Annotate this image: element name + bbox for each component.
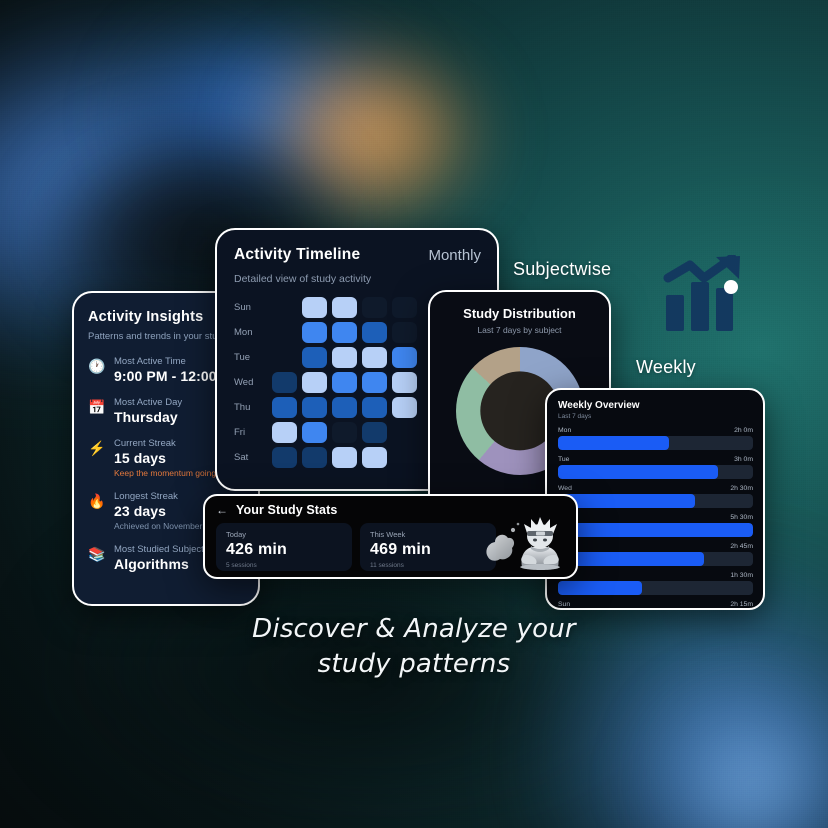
weekly-bar-header: Mon2h 0m: [558, 427, 753, 434]
heatmap-cell[interactable]: [362, 447, 387, 468]
heatmap-day-label: Mon: [234, 327, 272, 338]
insight-value: 23 days: [114, 503, 202, 519]
heatmap-cell[interactable]: [392, 297, 417, 318]
weekly-bar-item: Thu5h 30m: [558, 514, 753, 537]
study-distribution-title: Study Distribution: [442, 306, 597, 321]
weekly-bar-value: 5h 30m: [730, 514, 753, 521]
heatmap-cell[interactable]: [362, 372, 387, 393]
heatmap-cell[interactable]: [362, 422, 387, 443]
insight-label: Longest Streak: [114, 491, 202, 502]
heatmap-cells: [272, 297, 417, 318]
weekly-bar-fill: [558, 465, 718, 479]
heatmap-cell[interactable]: [272, 447, 297, 468]
study-stat-label: Today: [226, 530, 342, 539]
heatmap-day-label: Thu: [234, 402, 272, 413]
weekly-overview-subtitle: Last 7 days: [558, 413, 753, 420]
heatmap-cell[interactable]: [392, 322, 417, 343]
weekly-bar-track[interactable]: [558, 552, 753, 566]
heatmap-cell[interactable]: [302, 347, 327, 368]
heatmap-cell: [272, 297, 297, 318]
heatmap-day-label: Sat: [234, 452, 272, 463]
weekly-bar-fill: [558, 523, 753, 537]
study-stat-sessions: 11 sessions: [370, 562, 486, 569]
lightning-bolt-icon: ⚡: [88, 438, 105, 456]
heatmap-cell[interactable]: [392, 372, 417, 393]
weekly-bar-day: Sun: [558, 601, 570, 608]
clock-icon: 🕐: [88, 356, 105, 374]
weekly-bar-item: Mon2h 0m: [558, 427, 753, 450]
insight-text: Current Streak15 daysKeep the momentum g…: [114, 438, 218, 478]
study-distribution-subtitle: Last 7 days by subject: [442, 325, 597, 335]
weekly-bar-fill: [558, 581, 642, 595]
calendar-icon: 📅: [88, 397, 105, 415]
books-icon: 📚: [88, 544, 105, 562]
heatmap-day-label: Wed: [234, 377, 272, 388]
weekly-overview-title: Weekly Overview: [558, 400, 753, 411]
weekly-overview-card: Weekly Overview Last 7 days Mon2h 0mTue3…: [545, 388, 765, 610]
weekly-bar-track[interactable]: [558, 523, 753, 537]
weekly-bar-track[interactable]: [558, 581, 753, 595]
heatmap-cell: [392, 447, 417, 468]
insight-text: Longest Streak23 daysAchieved on Novembe…: [114, 491, 202, 531]
heatmap-cell[interactable]: [332, 372, 357, 393]
heatmap-cell: [272, 347, 297, 368]
insight-value: Thursday: [114, 409, 182, 425]
study-stats-card: ← Your Study Stats Today426 min5 session…: [203, 494, 578, 579]
heatmap-cell[interactable]: [302, 322, 327, 343]
heatmap-day-label: Tue: [234, 352, 272, 363]
weekly-bar-value: 3h 0m: [734, 456, 753, 463]
study-stat-sessions: 5 sessions: [226, 562, 342, 569]
heatmap-cell: [392, 422, 417, 443]
heatmap-cell[interactable]: [332, 447, 357, 468]
weekly-bar-item: Tue3h 0m: [558, 456, 753, 479]
weekly-bar-fill: [558, 436, 669, 450]
heatmap-cell[interactable]: [302, 397, 327, 418]
heatmap-cell[interactable]: [392, 397, 417, 418]
weekly-bar-track[interactable]: [558, 465, 753, 479]
heatmap-cell[interactable]: [392, 347, 417, 368]
heatmap-cells: [272, 322, 417, 343]
heatmap-day-label: Fri: [234, 427, 272, 438]
insight-label: Current Streak: [114, 438, 218, 449]
fire-icon: 🔥: [88, 491, 105, 509]
label-weekly: Weekly: [636, 357, 696, 378]
activity-timeline-title: Activity Timeline: [234, 246, 360, 264]
weekly-bar-track[interactable]: [558, 494, 753, 508]
insight-value: 15 days: [114, 450, 218, 466]
caption-line-2: study patterns: [0, 647, 828, 682]
caption: Discover & Analyze your study patterns: [0, 612, 828, 682]
weekly-bar-value: 2h 0m: [734, 427, 753, 434]
heatmap-day-label: Sun: [234, 302, 272, 313]
insight-text: Most Active DayThursday: [114, 397, 182, 425]
heatmap-cells: [272, 397, 417, 418]
activity-timeline-subtitle: Detailed view of study activity: [234, 273, 481, 285]
weekly-overview-bar-list: Mon2h 0mTue3h 0mWed2h 30mThu5h 30mFri2h …: [558, 427, 753, 610]
insight-value: Algorithms: [114, 556, 204, 572]
insight-label: Most Studied Subject: [114, 544, 204, 555]
heatmap-cell[interactable]: [272, 372, 297, 393]
heatmap-cell[interactable]: [332, 422, 357, 443]
weekly-bar-day: Tue: [558, 456, 569, 463]
weekly-bar-item: Fri2h 45m: [558, 543, 753, 566]
heatmap-cell[interactable]: [362, 297, 387, 318]
heatmap-cell[interactable]: [362, 347, 387, 368]
weekly-bar-header: Wed2h 30m: [558, 485, 753, 492]
weekly-bar-header: Sat1h 30m: [558, 572, 753, 579]
weekly-bar-header: Sun2h 15m: [558, 601, 753, 608]
insight-text: Most Studied SubjectAlgorithms: [114, 544, 204, 572]
bar-chart-growth-icon: [660, 255, 748, 337]
weekly-bar-day: Wed: [558, 485, 572, 492]
anime-character-art: [482, 513, 574, 573]
heatmap-cell[interactable]: [302, 372, 327, 393]
heatmap-cell[interactable]: [332, 347, 357, 368]
weekly-bar-value: 2h 45m: [730, 543, 753, 550]
study-stat-tile[interactable]: This Week469 min11 sessions: [360, 523, 496, 571]
weekly-bar-value: 1h 30m: [730, 572, 753, 579]
heatmap-cell[interactable]: [332, 297, 357, 318]
insight-note: Keep the momentum going!: [114, 468, 218, 478]
study-stat-value: 469 min: [370, 541, 486, 559]
heatmap-cell[interactable]: [302, 297, 327, 318]
insight-label: Most Active Day: [114, 397, 182, 408]
heatmap-cell[interactable]: [332, 397, 357, 418]
weekly-bar-value: 2h 30m: [730, 485, 753, 492]
heatmap-cell[interactable]: [272, 422, 297, 443]
weekly-bar-fill: [558, 494, 695, 508]
heatmap-cells: [272, 447, 417, 468]
back-arrow-icon[interactable]: ←: [216, 504, 228, 516]
heatmap-cells: [272, 422, 417, 443]
study-stat-tile[interactable]: Today426 min5 sessions: [216, 523, 352, 571]
weekly-bar-item: Wed2h 30m: [558, 485, 753, 508]
weekly-bar-item: Sun2h 15m: [558, 601, 753, 610]
heatmap-cell[interactable]: [332, 322, 357, 343]
insight-note: Achieved on November: [114, 521, 202, 531]
heatmap-cell[interactable]: [302, 422, 327, 443]
weekly-bar-header: Fri2h 45m: [558, 543, 753, 550]
heatmap-cells: [272, 347, 417, 368]
study-stats-tiles: Today426 min5 sessionsThis Week469 min11…: [205, 523, 576, 571]
label-subjectwise: Subjectwise: [513, 259, 611, 280]
study-stats-title: Your Study Stats: [236, 503, 337, 517]
weekly-bar-day: Mon: [558, 427, 571, 434]
weekly-bar-track[interactable]: [558, 436, 753, 450]
heatmap-cell[interactable]: [362, 397, 387, 418]
weekly-bar-fill: [558, 552, 704, 566]
study-stat-value: 426 min: [226, 541, 342, 559]
weekly-bar-item: Sat1h 30m: [558, 572, 753, 595]
heatmap-cells: [272, 372, 417, 393]
heatmap-cell[interactable]: [272, 397, 297, 418]
heatmap-cell[interactable]: [362, 322, 387, 343]
heatmap-cell: [272, 322, 297, 343]
activity-timeline-period-selector[interactable]: Monthly: [428, 246, 481, 264]
weekly-bar-value: 2h 15m: [730, 601, 753, 608]
weekly-bar-header: Tue3h 0m: [558, 456, 753, 463]
weekly-bar-header: Thu5h 30m: [558, 514, 753, 521]
study-stat-label: This Week: [370, 530, 486, 539]
heatmap-cell[interactable]: [302, 447, 327, 468]
caption-line-1: Discover & Analyze your: [0, 612, 828, 647]
